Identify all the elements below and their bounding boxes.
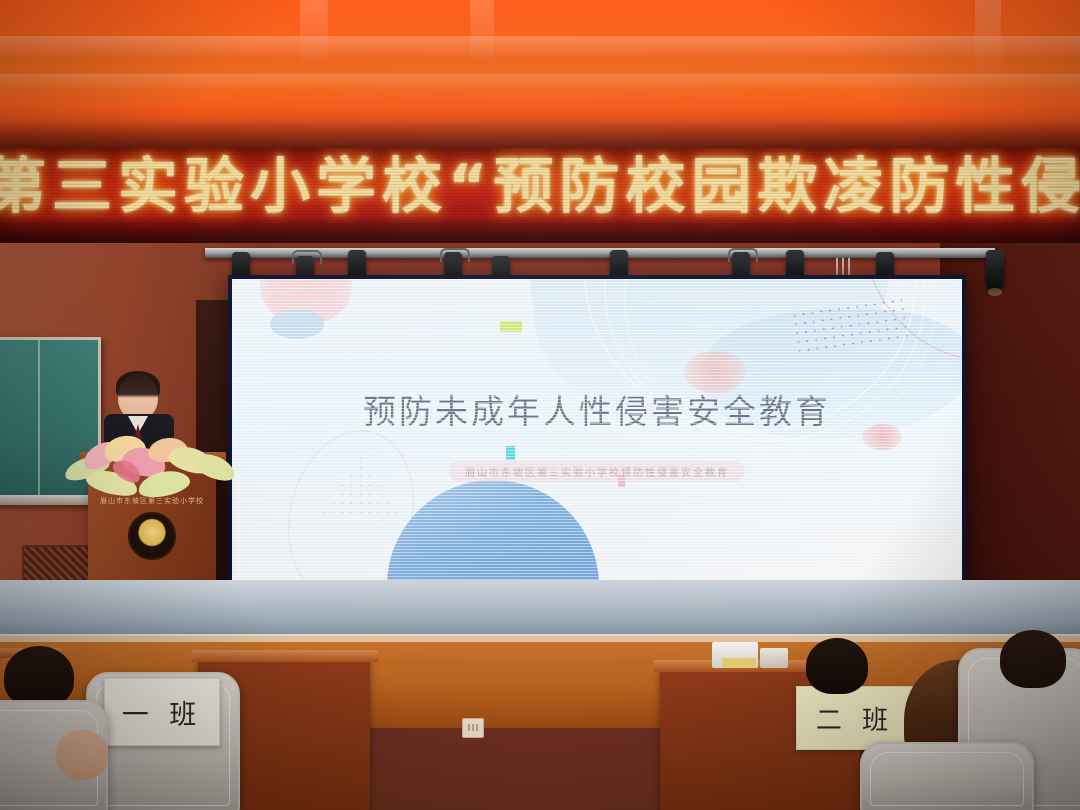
banner-shadow	[0, 218, 1080, 244]
light-yoke	[728, 248, 758, 262]
slide-shape-blue-ellipse	[270, 309, 324, 339]
desk-paper	[722, 658, 756, 668]
stage-floor	[0, 580, 1080, 640]
led-scrolling-banner: 第三实验小学校“预防校园欺凌防性侵	[0, 148, 1080, 244]
chalkboard-divider	[38, 340, 40, 502]
led-banner-text: 第三实验小学校“预防校园欺凌防性侵	[0, 154, 1080, 220]
audience-arm	[56, 730, 108, 780]
audience-chair-front-right[interactable]	[860, 742, 1034, 810]
audience-head	[4, 646, 74, 708]
placard-class-2: 二 班	[796, 686, 914, 750]
audience-head	[1000, 630, 1066, 688]
slide-shape-blue-semicircle	[387, 480, 599, 584]
slide-canvas: 预防未成年人性侵害安全教育 眉山市东坡区第三实验小学校预防性侵害安全教育	[232, 279, 962, 584]
slide-title: 预防未成年人性侵害安全教育	[232, 385, 962, 433]
slide-subtitle: 眉山市东坡区第三实验小学校预防性侵害安全教育	[449, 461, 745, 482]
desk-small-box	[760, 648, 788, 668]
power-outlet-icon	[462, 718, 484, 738]
audience-head	[806, 638, 868, 694]
stage-light-icon	[986, 250, 1004, 290]
podium-flower-arrangement	[60, 432, 240, 502]
light-yoke	[292, 250, 322, 264]
slide-shape-yellow-rect	[500, 321, 522, 332]
slide-shape-cyan-square	[506, 446, 515, 460]
led-presentation-screen[interactable]: 预防未成年人性侵害安全教育 眉山市东坡区第三实验小学校预防性侵害安全教育	[228, 275, 966, 588]
placard-class-1: 一 班	[104, 678, 220, 746]
chair-seam	[870, 752, 1024, 806]
ceiling	[0, 0, 1080, 152]
desk-top	[192, 650, 378, 662]
school-emblem-icon	[128, 512, 176, 560]
light-yoke	[440, 248, 470, 262]
auditorium-photo: 第三实验小学校“预防校园欺凌防性侵	[0, 0, 1080, 810]
